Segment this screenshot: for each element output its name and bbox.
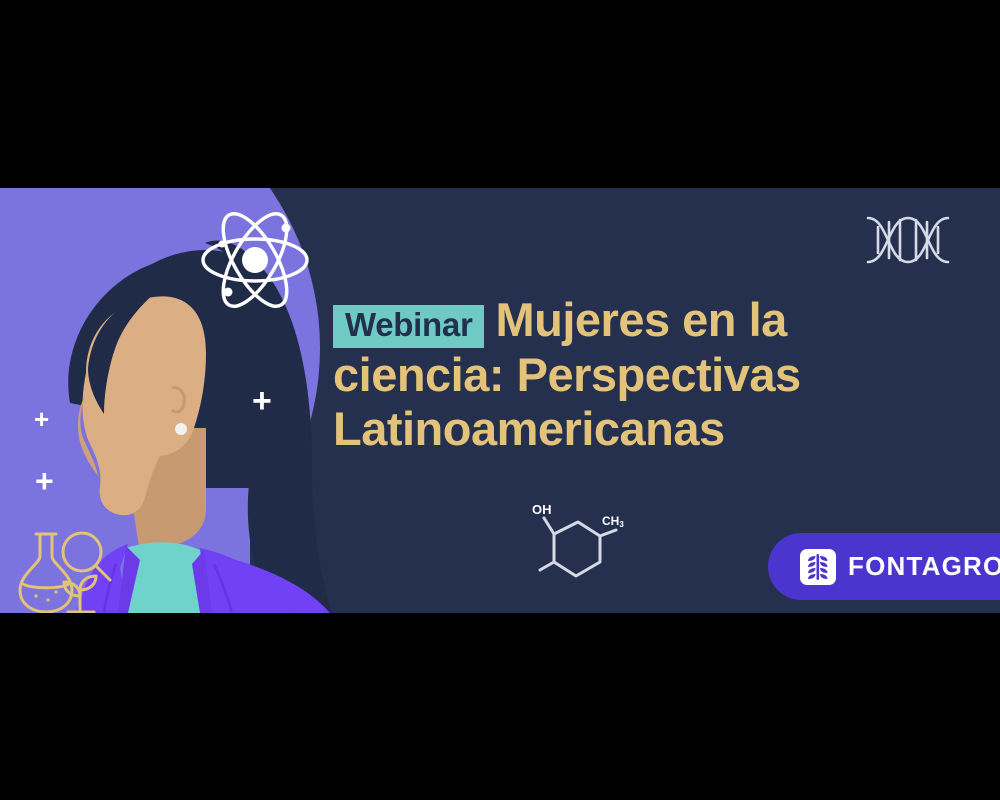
page-title: WebinarMujeres en laciencia: Perspectiva… (333, 293, 953, 456)
plus-sparkle-icon: + (35, 465, 54, 497)
plus-sparkle-icon: + (34, 406, 49, 432)
headline-line-2: ciencia: Perspectivas (333, 348, 801, 401)
molecule-icon: OH CH3 (516, 500, 626, 600)
atom-icon (196, 206, 314, 314)
screenshot-canvas: + + + (0, 0, 1000, 800)
headline-line-3: Latinoamericanas (333, 402, 725, 455)
fontagro-logo[interactable]: FONTAGRO (768, 533, 1000, 600)
headline-block: WebinarMujeres en laciencia: Perspectiva… (333, 293, 953, 456)
molecule-label-ch3: CH3 (602, 514, 624, 529)
flask-magnifier-plant-icon (14, 526, 118, 613)
earring (175, 423, 187, 435)
webinar-banner: + + + (0, 188, 1000, 613)
plus-sparkle-icon: + (252, 384, 272, 418)
fontagro-wordmark: FONTAGRO (848, 551, 1000, 582)
molecule-label-oh: OH (532, 502, 552, 517)
status-badge: Webinar (333, 305, 484, 348)
dna-helix-icon (862, 212, 954, 268)
fontagro-wheat-mark-icon (800, 549, 836, 585)
headline-line-1: Mujeres en la (495, 293, 786, 346)
